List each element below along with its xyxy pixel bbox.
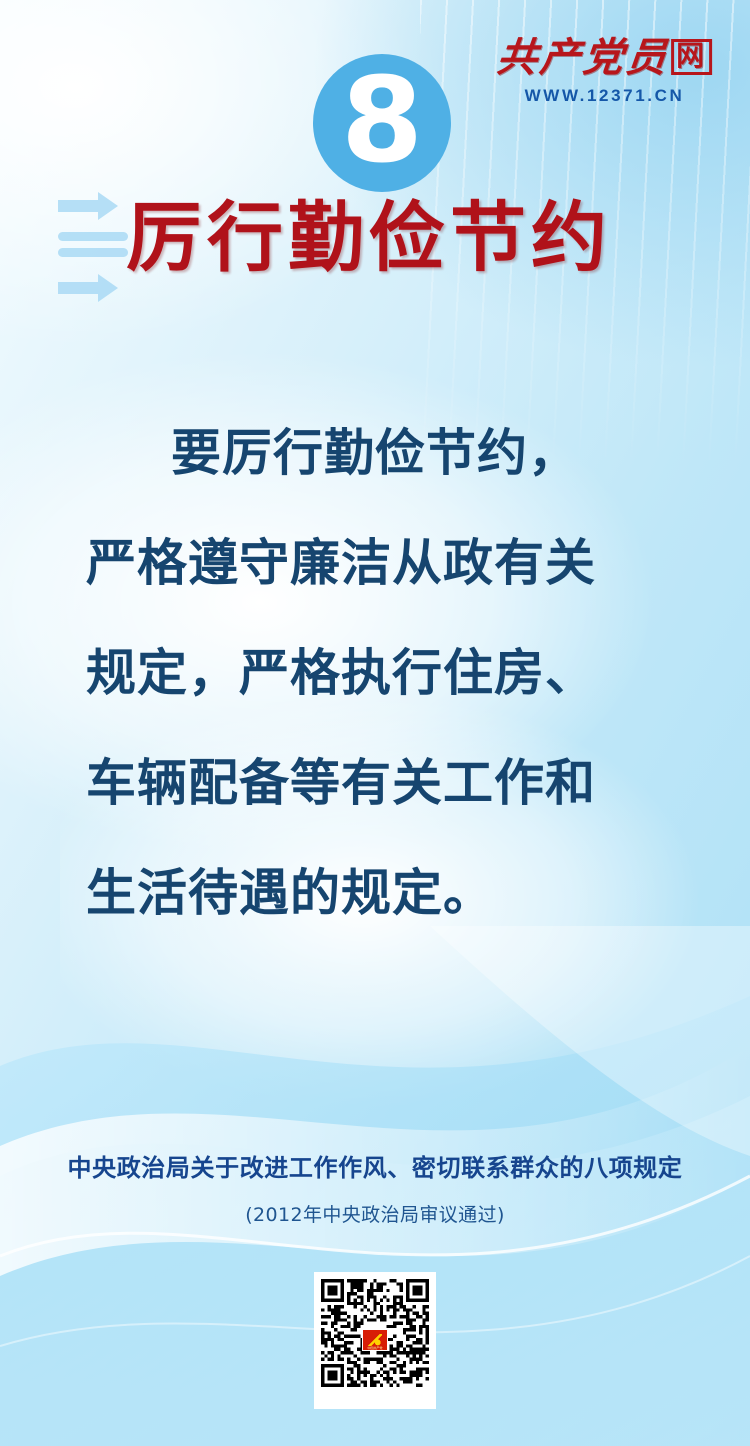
site-logo[interactable]: 共产党员网 WWW.12371.CN (487, 38, 722, 104)
hammer-sickle-icon (368, 1334, 382, 1346)
party-emblem-label: 中国共产党 (363, 1346, 387, 1350)
page-title: 厉行勤俭节约 (126, 196, 612, 280)
footer-regulation-title: 中央政治局关于改进工作作风、密切联系群众的八项规定 (0, 1148, 750, 1183)
item-number-value: 8 (341, 61, 423, 179)
site-logo-text: 共产党员 (495, 35, 672, 80)
arrows-icon (58, 192, 136, 310)
item-number-badge: 8 (313, 54, 451, 192)
party-emblem-icon: 中国共产党 (362, 1329, 388, 1351)
body-line: 生活待遇的规定。 (86, 838, 664, 948)
site-logo-mark: 共产党员网 (485, 38, 724, 78)
body-line: 车辆配备等有关工作和 (86, 728, 664, 838)
footer-regulation-subtitle: (2012年中央政治局审议通过) (0, 1200, 750, 1227)
site-logo-url: WWW.12371.CN (487, 87, 722, 104)
body-line: 严格遵守廉洁从政有关 (86, 508, 664, 618)
body-line: 要厉行勤俭节约， (86, 398, 664, 508)
poster-body: 要厉行勤俭节约， 严格遵守廉洁从政有关 规定，严格执行住房、 车辆配备等有关工作… (0, 398, 750, 948)
site-logo-net-box: 网 (671, 39, 712, 75)
qr-code[interactable]: 中国共产党 (314, 1272, 436, 1409)
body-line: 规定，严格执行住房、 (86, 618, 664, 728)
